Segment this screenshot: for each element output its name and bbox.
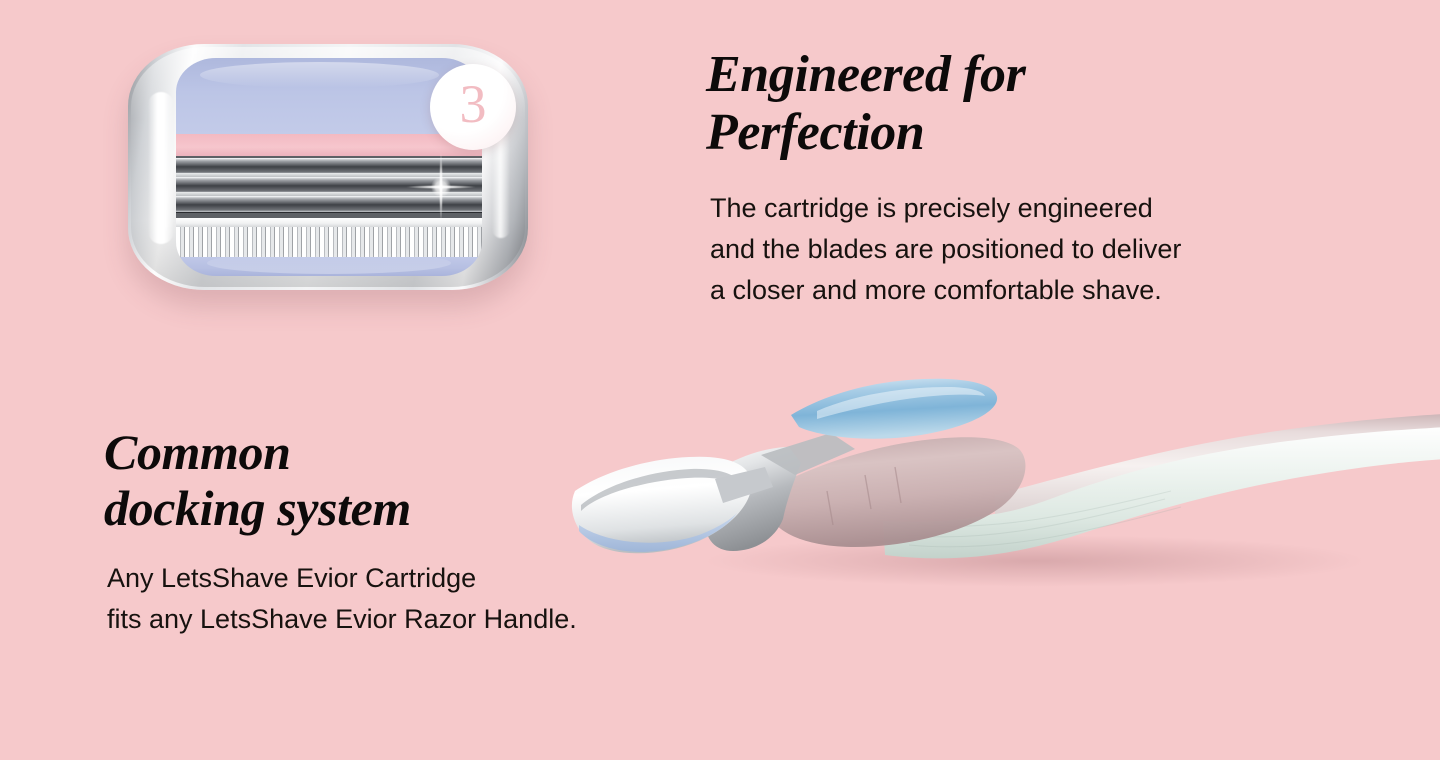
razor-handle-illustration	[565, 375, 1440, 600]
cartridge-blade-stack	[176, 156, 482, 218]
cartridge-blue-skin-guard	[176, 257, 482, 276]
headline-common-docking-system: Common docking system	[104, 424, 411, 536]
blade-count-number: 3	[460, 77, 487, 137]
razor-cartridge-illustration: 3	[128, 44, 528, 290]
cartridge-left-gloss-highlight	[148, 92, 174, 244]
razor-blue-cap	[791, 379, 997, 439]
cartridge-white-divider	[176, 218, 482, 227]
blade-count-badge: 3	[430, 64, 516, 150]
body-copy-docking: Any LetsShave Evior Cartridge fits any L…	[107, 558, 577, 640]
body-copy-engineered: The cartridge is precisely engineered an…	[710, 188, 1181, 311]
product-feature-banner: 3 Engineered for Perfection The cartridg…	[0, 0, 1440, 760]
headline-engineered-for-perfection: Engineered for Perfection	[706, 46, 1025, 162]
cartridge-lubricating-strip	[176, 134, 482, 156]
blade-3	[176, 196, 482, 213]
